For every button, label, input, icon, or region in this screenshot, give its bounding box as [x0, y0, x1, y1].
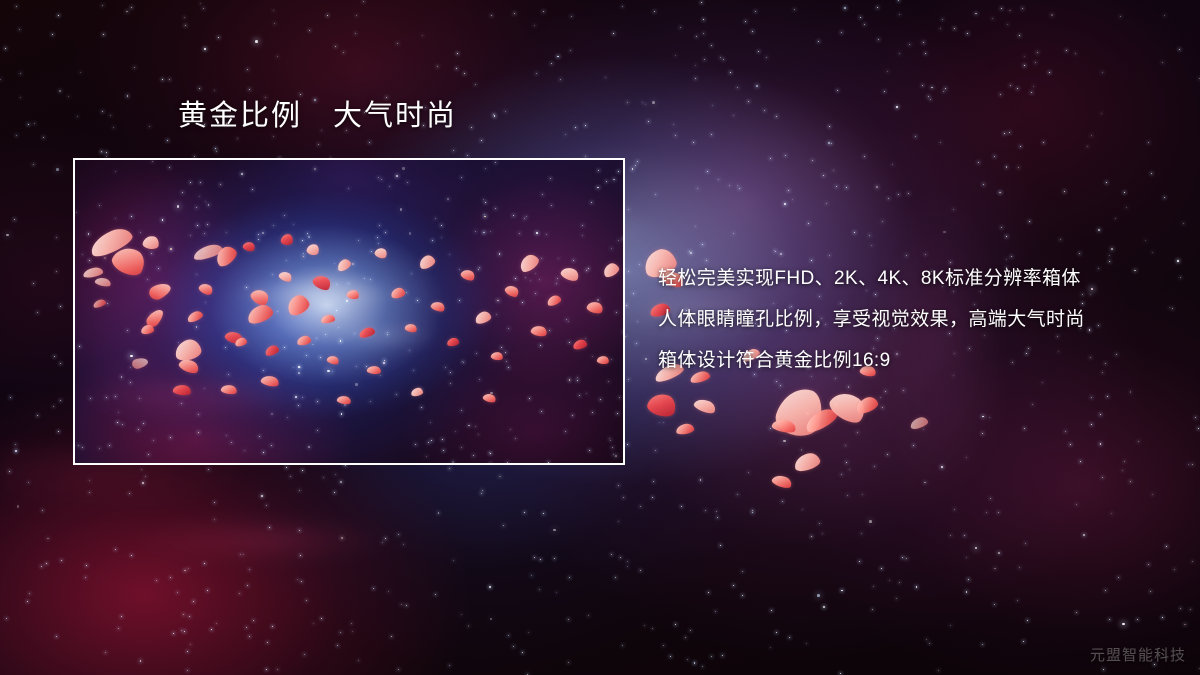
body-line-2: 人体眼睛瞳孔比例，享受视觉效果，高端大气时尚	[658, 299, 1178, 340]
body-text-block: 轻松完美实现FHD、2K、4K、8K标准分辨率箱体 人体眼睛瞳孔比例，享受视觉效…	[658, 258, 1178, 381]
body-line-3: 箱体设计符合黄金比例16:9	[658, 340, 1178, 381]
slide-root: 黄金比例 大气时尚 轻松完美实现FHD、2K、4K、8K标准分辨率箱体 人体眼睛…	[0, 0, 1200, 675]
image-frame	[73, 158, 625, 465]
watermark: 元盟智能科技	[1090, 644, 1186, 665]
page-title: 黄金比例 大气时尚	[178, 101, 457, 133]
body-line-1: 轻松完美实现FHD、2K、4K、8K标准分辨率箱体	[658, 258, 1178, 299]
image-frame-wisps	[75, 160, 623, 463]
